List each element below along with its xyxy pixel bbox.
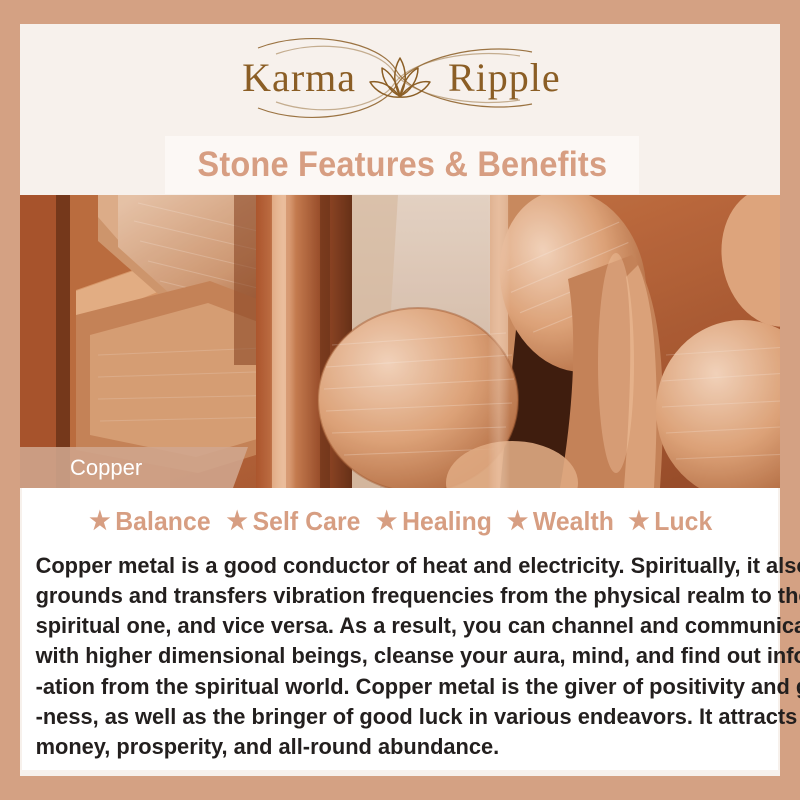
logo-wrapper: Karma Ripple (180, 30, 620, 126)
benefit-balance: ★ Balance (89, 506, 210, 537)
infographic-page: Karma Ripple Stone Feat (0, 0, 800, 800)
star-icon: ★ (628, 509, 649, 534)
description-line: Copper metal is a good conductor of heat… (36, 551, 742, 581)
copper-bars-photo: Copper (20, 195, 780, 488)
description-line: -ation from the spiritual world. Copper … (36, 672, 742, 702)
benefit-luck: ★ Luck (628, 506, 712, 537)
page-title: Stone Features & Benefits (197, 145, 607, 185)
description-text: Copper metal is a good conductor of heat… (22, 537, 755, 762)
star-icon: ★ (507, 509, 528, 534)
benefit-healing: ★ Healing (376, 506, 492, 537)
description-line: with higher dimensional beings, cleanse … (36, 641, 742, 671)
lotus-icon (362, 50, 438, 106)
benefit-label: Luck (654, 506, 712, 537)
description-line: -ness, as well as the bringer of good lu… (36, 702, 742, 732)
description-line: money, prosperity, and all-round abundan… (36, 732, 742, 762)
logo-text-row: Karma Ripple (180, 50, 620, 106)
benefit-self-care: ★ Self Care (226, 506, 360, 537)
description-line: grounds and transfers vibration frequenc… (36, 581, 742, 611)
title-banner: Stone Features & Benefits (165, 136, 639, 194)
photo-artwork (20, 195, 780, 488)
benefit-wealth: ★ Wealth (507, 506, 614, 537)
description-line: spiritual one, and vice versa. As a resu… (36, 611, 742, 641)
benefit-label: Healing (402, 506, 492, 537)
stone-name: Copper (20, 457, 142, 479)
star-icon: ★ (89, 509, 110, 534)
brand-name-right: Ripple (438, 58, 613, 98)
benefits-list: ★ Balance ★ Self Care ★ Healing ★ Wealth… (22, 488, 778, 537)
benefit-label: Wealth (533, 506, 614, 537)
benefit-label: Balance (115, 506, 210, 537)
brand-logo: Karma Ripple (22, 24, 778, 132)
brand-name-left: Karma (187, 58, 362, 98)
star-icon: ★ (376, 509, 397, 534)
stone-name-badge: Copper (20, 447, 248, 488)
benefit-label: Self Care (252, 506, 360, 537)
star-icon: ★ (226, 509, 247, 534)
content-card: ★ Balance ★ Self Care ★ Healing ★ Wealth… (22, 488, 778, 770)
